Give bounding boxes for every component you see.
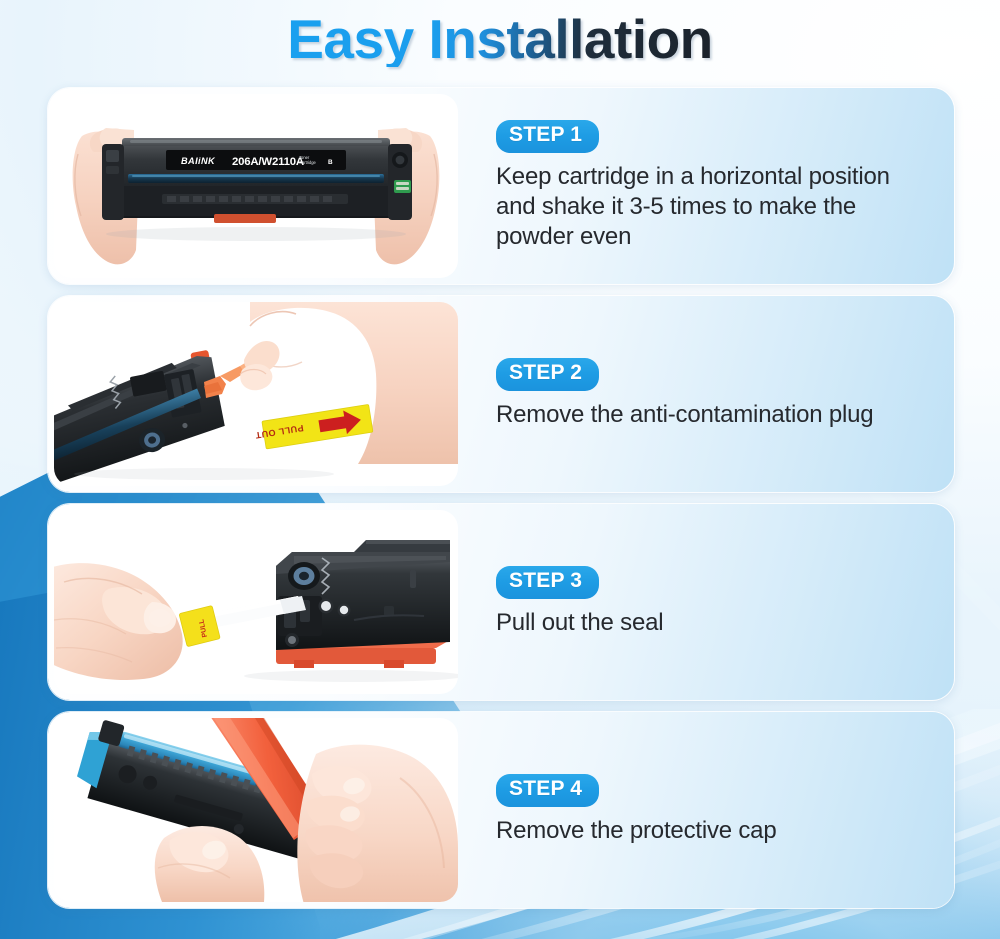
step-1-badge: STEP 1	[496, 120, 599, 153]
step-2-copy: STEP 2 Remove the anti-contamination plu…	[458, 296, 954, 492]
step-4-photo	[54, 718, 458, 902]
step-card-2: PULL OUT STEP 2 Remove the anti-contamin…	[48, 296, 954, 492]
step-1-description: Keep cartridge in a horizontal position …	[496, 162, 926, 251]
installation-steps-list: BAIiNK 206A/W2110A Toner Cartridge B	[48, 88, 954, 908]
step-3-description: Pull out the seal	[496, 608, 932, 638]
step-card-1: BAIiNK 206A/W2110A Toner Cartridge B	[48, 88, 954, 284]
step-2-badge: STEP 2	[496, 358, 599, 391]
hands-removing-orange-protective-cap-illustration	[54, 718, 458, 902]
step-2-photo: PULL OUT	[54, 302, 458, 486]
step-card-3: PULL	[48, 504, 954, 700]
svg-text:BAIiNK: BAIiNK	[181, 156, 216, 166]
step-3-badge: STEP 3	[496, 566, 599, 599]
page-title-container: Easy Installation	[0, 0, 1000, 78]
step-card-4: STEP 4 Remove the protective cap	[48, 712, 954, 908]
step-3-copy: STEP 3 Pull out the seal	[458, 504, 954, 700]
svg-text:Cartridge: Cartridge	[299, 160, 317, 165]
step-4-badge: STEP 4	[496, 774, 599, 807]
toner-cartridge-held-in-two-hands-illustration: BAIiNK 206A/W2110A Toner Cartridge B	[54, 94, 458, 278]
step-1-photo: BAIiNK 206A/W2110A Toner Cartridge B	[54, 94, 458, 278]
page-title: Easy Installation	[287, 12, 713, 67]
step-1-copy: STEP 1 Keep cartridge in a horizontal po…	[458, 88, 954, 284]
step-2-description: Remove the anti-contamination plug	[496, 400, 932, 430]
step-3-photo: PULL	[54, 510, 458, 694]
hand-removing-orange-anti-contamination-plug-illustration: PULL OUT	[54, 302, 458, 486]
svg-text:B: B	[328, 159, 333, 166]
hand-pulling-yellow-seal-strip-illustration: PULL	[54, 510, 458, 694]
step-4-copy: STEP 4 Remove the protective cap	[458, 712, 954, 908]
svg-text:206A/W2110A: 206A/W2110A	[232, 156, 304, 168]
step-4-description: Remove the protective cap	[496, 816, 932, 846]
